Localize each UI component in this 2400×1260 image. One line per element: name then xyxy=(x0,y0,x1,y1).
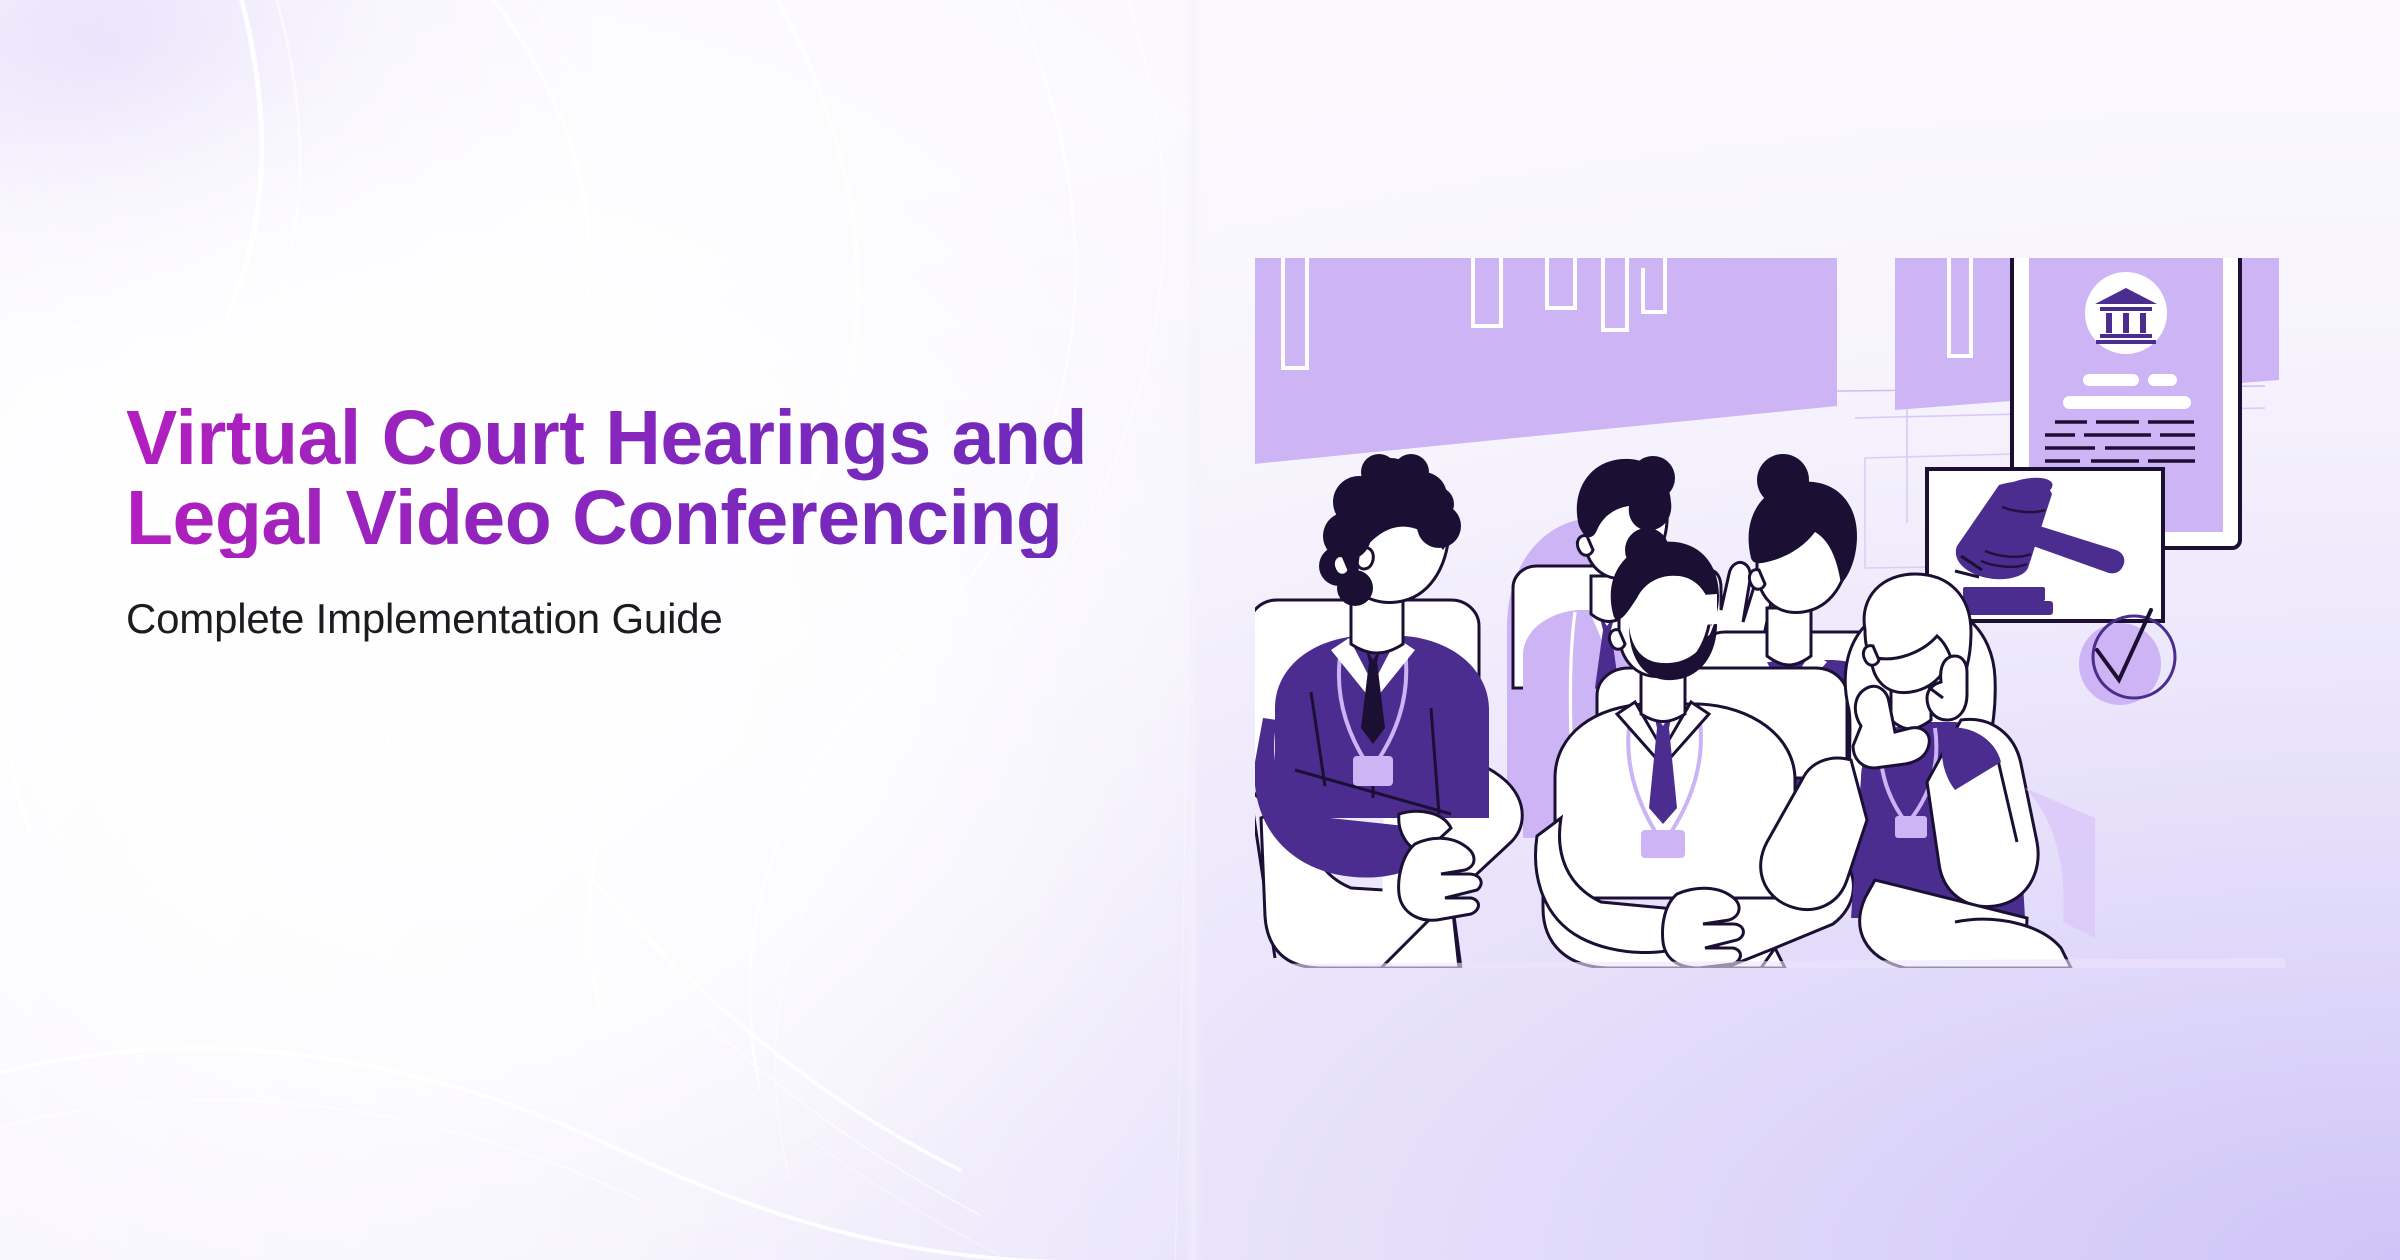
background-section-divider xyxy=(1185,0,1203,1260)
page-subtitle: Complete Implementation Guide xyxy=(126,596,1166,642)
courthouse-icon xyxy=(2085,272,2167,354)
hero-banner: Virtual Court Hearings and Legal Video C… xyxy=(0,0,2400,1260)
page-title-line-1: Virtual Court Hearings and xyxy=(126,395,1087,481)
hero-text-block: Virtual Court Hearings and Legal Video C… xyxy=(126,398,1166,642)
person-front-left-curly-hair-suit xyxy=(1255,454,1522,968)
virtual-court-hearing-illustration xyxy=(1255,258,2285,968)
background-window-left xyxy=(1255,258,1837,466)
page-title-line-2: Legal Video Conferencing xyxy=(126,478,1166,558)
checkmark-badge xyxy=(2079,610,2175,705)
page-title: Virtual Court Hearings and Legal Video C… xyxy=(126,398,1166,558)
